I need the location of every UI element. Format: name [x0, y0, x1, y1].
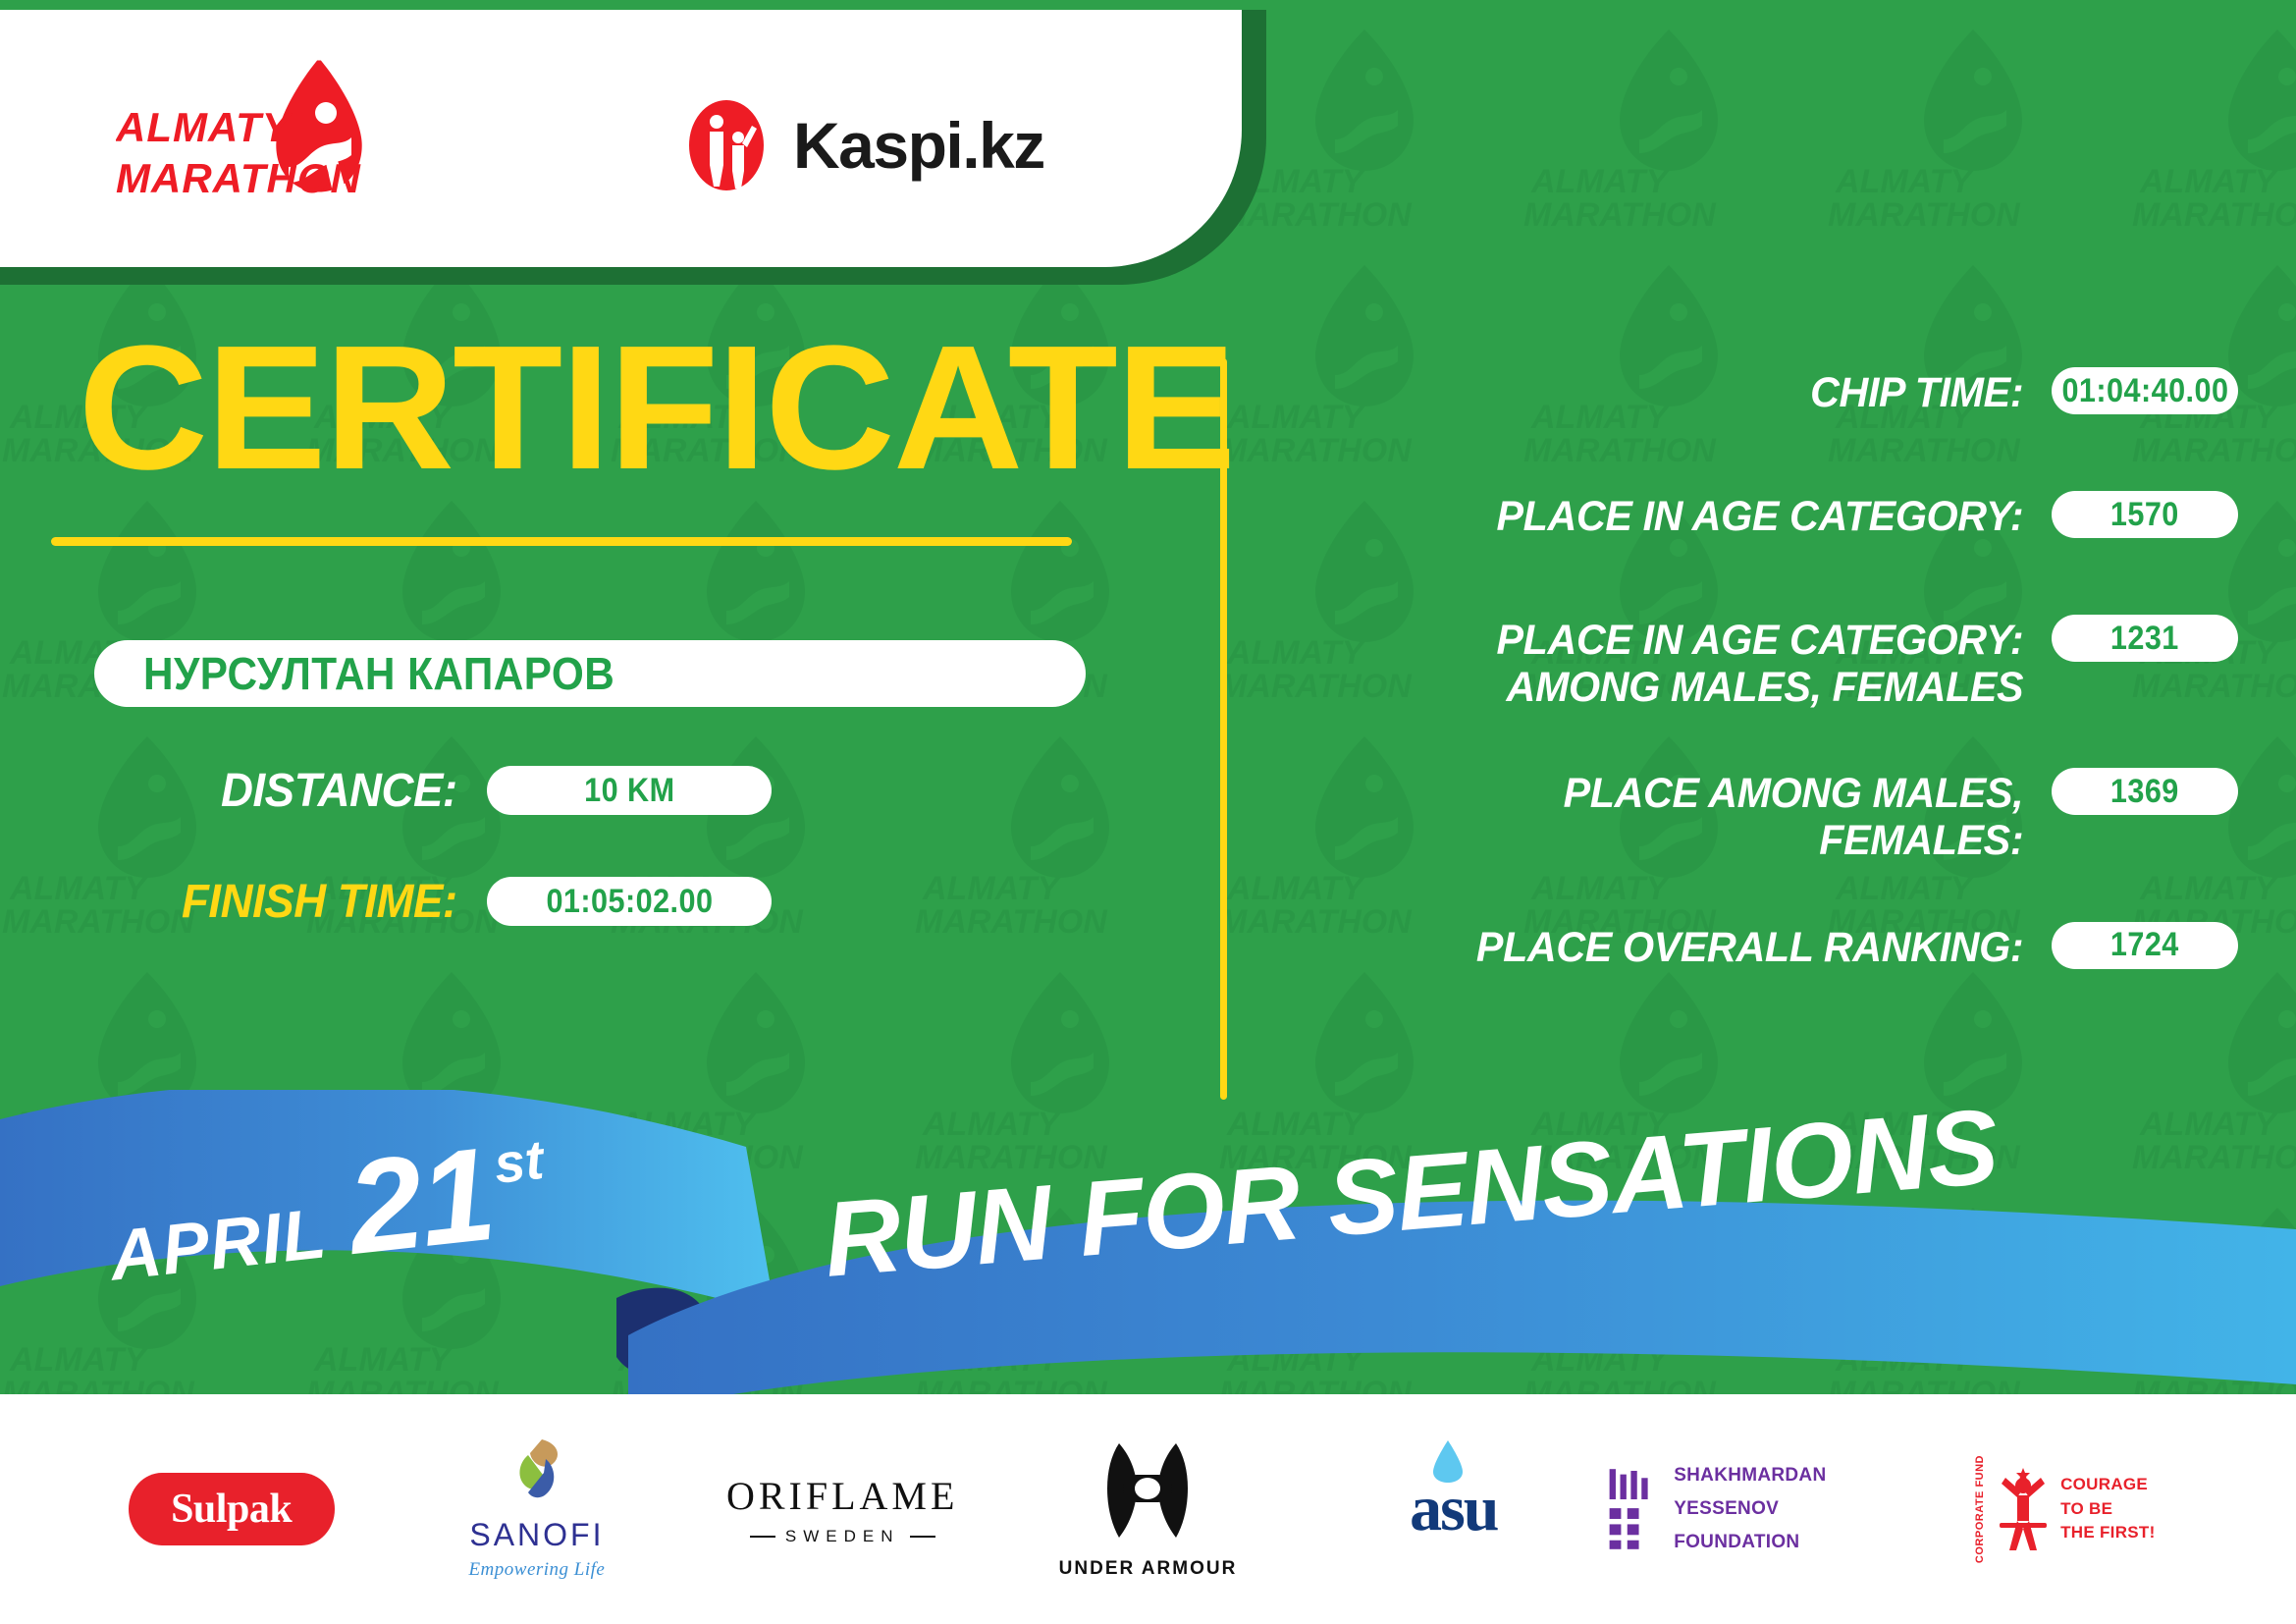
sponsor-sanofi: SANOFI Empowering Life	[384, 1435, 689, 1583]
courage-fund-wordmark: COURAGE TO BE THE FIRST!	[2060, 1473, 2156, 1545]
courage-line2: TO BE	[2060, 1497, 2156, 1522]
gender-place-label-line2: FEMALES:	[1288, 817, 2023, 864]
age-category-gender-value: 1231	[2110, 620, 2179, 658]
age-category-gender-label-line1: PLACE IN AGE CATEGORY:	[1288, 617, 2023, 664]
kaspi-logo: Kaspi.kz	[677, 93, 1070, 196]
age-category-gender-value-pill: 1231	[2052, 615, 2238, 662]
stat-row-age-category-gender: PLACE IN AGE CATEGORY: AMONG MALES, FEMA…	[1256, 613, 2238, 711]
courage-line1: COURAGE	[2060, 1473, 2156, 1497]
certificate-root: ALMATY MARATHON ALMATY MARATHON	[0, 0, 2296, 1624]
column-divider	[1220, 358, 1227, 1100]
oriflame-dash-left-icon	[750, 1536, 775, 1538]
participant-name-field: НУРСУЛТАН КАПАРОВ	[94, 640, 1086, 707]
chip-time-label: CHIP TIME:	[1288, 365, 2052, 416]
title-divider	[51, 537, 1072, 546]
gender-place-value-pill: 1369	[2052, 768, 2238, 815]
gender-place-label: PLACE AMONG MALES, FEMALES:	[1288, 766, 2052, 864]
almaty-marathon-logo: ALMATY MARATHON	[116, 59, 440, 206]
yessenov-logo: SHAKHMARDAN YESSENOV FOUNDATION	[1606, 1459, 1911, 1560]
sanofi-logo: SANOFI Empowering Life	[468, 1437, 605, 1581]
sponsor-yessenov: SHAKHMARDAN YESSENOV FOUNDATION	[1606, 1435, 1911, 1583]
stat-row-overall-ranking: PLACE OVERALL RANKING: 1724	[1256, 920, 2238, 989]
kaspi-mark-icon	[677, 96, 775, 194]
age-category-value-pill: 1570	[2052, 491, 2238, 538]
sponsor-sulpak: Sulpak	[79, 1435, 384, 1583]
under-armour-wordmark: UNDER ARMOUR	[1059, 1558, 1238, 1580]
stat-row-age-category: PLACE IN AGE CATEGORY: 1570	[1256, 489, 2238, 558]
sponsor-under-armour: UNDER ARMOUR	[995, 1435, 1301, 1583]
yessenov-line1: SHAKHMARDAN YESSENOV	[1674, 1459, 1912, 1526]
oriflame-wordmark: ORIFLAME	[726, 1473, 958, 1519]
courage-fund-logo: CORPORATE FUND COURAGE TO BE THE FIRST!	[1974, 1455, 2156, 1563]
age-category-value: 1570	[2110, 496, 2179, 534]
gender-place-value: 1369	[2110, 773, 2179, 811]
sanofi-tagline: Empowering Life	[468, 1559, 605, 1581]
sulpak-logo: Sulpak	[129, 1473, 335, 1545]
courage-fund-arc-text: CORPORATE FUND	[1974, 1455, 1986, 1563]
oriflame-logo: ORIFLAME SWEDEN	[726, 1473, 958, 1546]
overall-ranking-value: 1724	[2110, 926, 2179, 964]
yessenov-wordmark: SHAKHMARDAN YESSENOV FOUNDATION	[1674, 1459, 1912, 1560]
top-green-edge	[0, 0, 2296, 10]
oriflame-sub-text: SWEDEN	[785, 1527, 900, 1546]
finish-time-label: FINISH TIME:	[114, 875, 487, 929]
results-column: CHIP TIME: 01:04:40.00 PLACE IN AGE CATE…	[1256, 365, 2238, 1044]
sponsor-bar: Sulpak SANOFI Empowering Life ORIFLAME	[0, 1394, 2296, 1624]
overall-ranking-label: PLACE OVERALL RANKING:	[1288, 920, 2052, 971]
stat-row-gender-place: PLACE AMONG MALES, FEMALES: 1369	[1256, 766, 2238, 864]
yessenov-line2: FOUNDATION	[1674, 1526, 1912, 1559]
age-category-gender-label-line2: AMONG MALES, FEMALES	[1288, 664, 2023, 711]
distance-label: DISTANCE:	[114, 764, 487, 818]
oriflame-dash-right-icon	[910, 1536, 935, 1538]
asu-droplet-icon	[1431, 1438, 1465, 1484]
chip-time-value: 01:04:40.00	[2061, 372, 2228, 410]
sanofi-wordmark: SANOFI	[468, 1517, 605, 1553]
yessenov-mark-icon	[1606, 1465, 1656, 1553]
sanofi-mark-icon	[501, 1437, 573, 1506]
event-day: 21	[341, 1117, 500, 1284]
kaspi-wordmark: Kaspi.kz	[793, 108, 1044, 183]
courage-runner-icon	[1998, 1464, 2049, 1554]
page-title: CERTIFICATE	[0, 324, 1232, 494]
under-armour-logo: UNDER ARMOUR	[1059, 1439, 1238, 1580]
finish-time-row: FINISH TIME: 01:05:02.00	[0, 875, 1207, 929]
distance-row: DISTANCE: 10 KM	[0, 764, 1207, 818]
sulpak-wordmark: Sulpak	[171, 1486, 292, 1533]
sponsor-asu: asu	[1301, 1435, 1606, 1583]
distance-value-pill: 10 KM	[487, 766, 772, 815]
participant-name-value: НУРСУЛТАН КАПАРОВ	[143, 647, 614, 700]
finish-time-value-pill: 01:05:02.00	[487, 877, 772, 926]
asu-logo: asu	[1410, 1472, 1497, 1546]
svg-text:MARATHON: MARATHON	[116, 155, 362, 201]
chip-time-value-pill: 01:04:40.00	[2052, 367, 2238, 414]
under-armour-mark-icon	[1094, 1439, 1201, 1545]
distance-value: 10 KM	[584, 772, 674, 810]
sponsor-oriflame: ORIFLAME SWEDEN	[690, 1435, 995, 1583]
finish-time-value: 01:05:02.00	[546, 883, 713, 921]
oriflame-sub: SWEDEN	[726, 1527, 958, 1546]
stat-row-chip-time: CHIP TIME: 01:04:40.00	[1256, 365, 2238, 434]
age-category-gender-label: PLACE IN AGE CATEGORY: AMONG MALES, FEMA…	[1288, 613, 2052, 711]
age-category-label: PLACE IN AGE CATEGORY:	[1288, 489, 2052, 540]
left-column: CERTIFICATE НУРСУЛТАН КАПАРОВ DISTANCE: …	[0, 324, 1207, 929]
event-month: APRIL	[106, 1193, 331, 1296]
event-day-suffix: st	[491, 1127, 547, 1196]
svg-text:ALMATY: ALMATY	[116, 104, 294, 150]
overall-ranking-value-pill: 1724	[2052, 922, 2238, 969]
courage-line3: THE FIRST!	[2060, 1521, 2156, 1545]
gender-place-label-line1: PLACE AMONG MALES,	[1288, 770, 2023, 817]
sponsor-courage-fund: CORPORATE FUND COURAGE TO BE THE FIRST!	[1912, 1435, 2217, 1583]
